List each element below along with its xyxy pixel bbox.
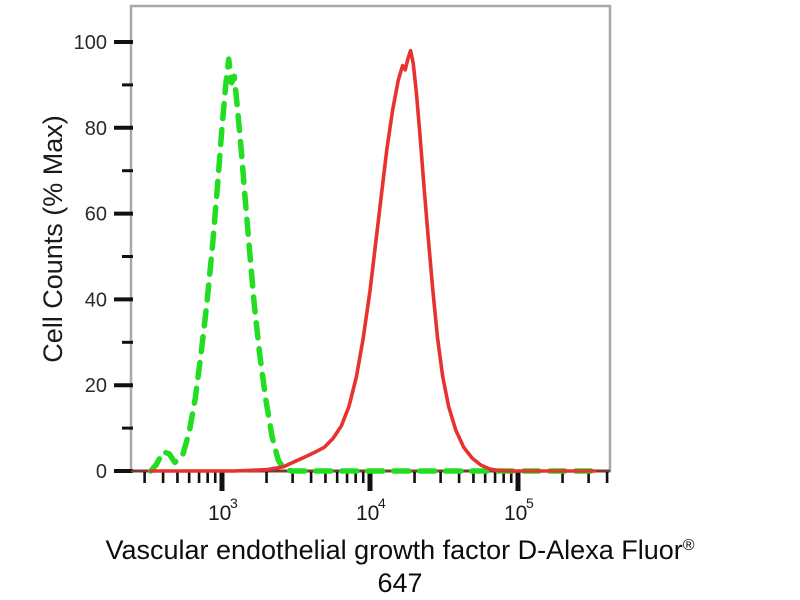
caption-registered-icon: ® bbox=[683, 537, 695, 554]
y-tick-label-100: 100 bbox=[74, 32, 107, 54]
x-tick-label-1e3-exp: 3 bbox=[230, 495, 238, 511]
x-tick-label-1e4-exp: 4 bbox=[378, 495, 386, 511]
x-tick-label-1e5-base: 10 bbox=[504, 502, 527, 525]
flow-cytometry-histogram: 0 20 40 60 80 100 Cell Counts (% Max) 10… bbox=[0, 0, 800, 600]
y-tick-label-80: 80 bbox=[85, 118, 107, 140]
caption-line-2: 647 bbox=[377, 568, 422, 598]
y-tick-label-40: 40 bbox=[85, 289, 107, 311]
y-tick-label-20: 20 bbox=[85, 375, 107, 397]
y-axis-title: Cell Counts (% Max) bbox=[38, 115, 68, 363]
x-tick-label-1e3-base: 10 bbox=[208, 502, 231, 525]
y-tick-label-0: 0 bbox=[96, 461, 107, 483]
x-tick-label-1e4-base: 10 bbox=[356, 502, 379, 525]
caption-line-1-text: Vascular endothelial growth factor D-Ale… bbox=[105, 535, 682, 565]
x-tick-label-1e5-exp: 5 bbox=[526, 495, 534, 511]
caption-line-1: Vascular endothelial growth factor D-Ale… bbox=[105, 535, 694, 565]
y-axis-title-text: Cell Counts (% Max) bbox=[38, 115, 68, 363]
y-tick-label-60: 60 bbox=[85, 204, 107, 226]
